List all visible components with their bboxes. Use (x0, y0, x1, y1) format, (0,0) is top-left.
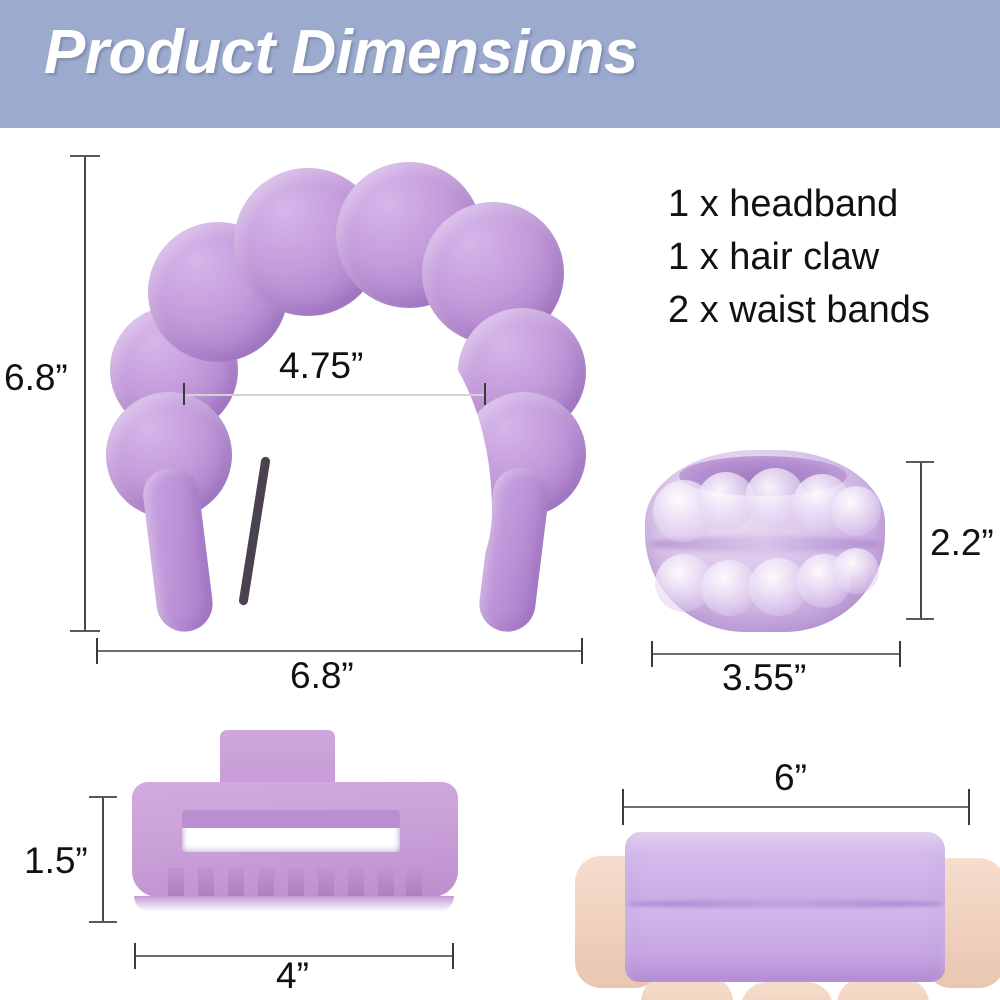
wrist-band-height-tick-top (906, 461, 934, 463)
hair-claw-height-label: 1.5” (24, 840, 88, 882)
parts-list: 1 x headband 1 x hair claw 2 x waist ban… (668, 178, 930, 337)
headband-inner-width-label: 4.75” (279, 345, 363, 387)
wrist-band-width-tick-right (899, 641, 901, 667)
wrist-band-image (645, 450, 885, 632)
wrist-band-width-line (651, 653, 901, 655)
headband-inner-width-tick-right (484, 383, 486, 405)
headband-inner-width-tick-left (183, 383, 185, 405)
waist-band-width-tick-right (968, 789, 970, 825)
headband-height-label: 6.8” (4, 357, 68, 399)
hair-claw-height-line (102, 797, 104, 923)
headband-height-line (84, 156, 86, 632)
wrist-band-width-label: 3.55” (722, 657, 806, 699)
headband-inner-width-line (183, 394, 485, 396)
wrist-band-width-tick-left (651, 641, 653, 667)
headband-width-tick-right (581, 638, 583, 664)
hair-claw-height-tick-top (89, 796, 117, 798)
hair-claw-height-tick-bottom (89, 921, 117, 923)
waist-band-width-label: 6” (774, 757, 807, 799)
wrist-band-height-tick-bottom (906, 618, 934, 620)
hair-claw-width-tick-left (134, 943, 136, 969)
header-banner: Product Dimensions (0, 0, 1000, 128)
headband-width-line (96, 650, 583, 652)
headband-height-tick-top (70, 155, 100, 157)
product-dimensions-infographic: Product Dimensions 1 x headband 1 x hair… (0, 0, 1000, 1000)
waist-band-image (575, 800, 1000, 1000)
hair-claw-width-tick-right (452, 943, 454, 969)
hair-claw-image (130, 728, 470, 928)
page-title: Product Dimensions (44, 22, 638, 84)
headband-width-tick-left (96, 638, 98, 664)
headband-height-tick-bottom (70, 630, 100, 632)
wrist-band-height-label: 2.2” (930, 522, 994, 564)
hair-claw-width-label: 4” (276, 955, 309, 997)
list-item: 1 x headband (668, 178, 930, 231)
wrist-band-height-line (920, 462, 922, 619)
headband-width-label: 6.8” (290, 655, 354, 697)
list-item: 2 x waist bands (668, 284, 930, 337)
list-item: 1 x hair claw (668, 231, 930, 284)
waist-band-width-tick-left (622, 789, 624, 825)
waist-band-width-line (622, 806, 970, 808)
